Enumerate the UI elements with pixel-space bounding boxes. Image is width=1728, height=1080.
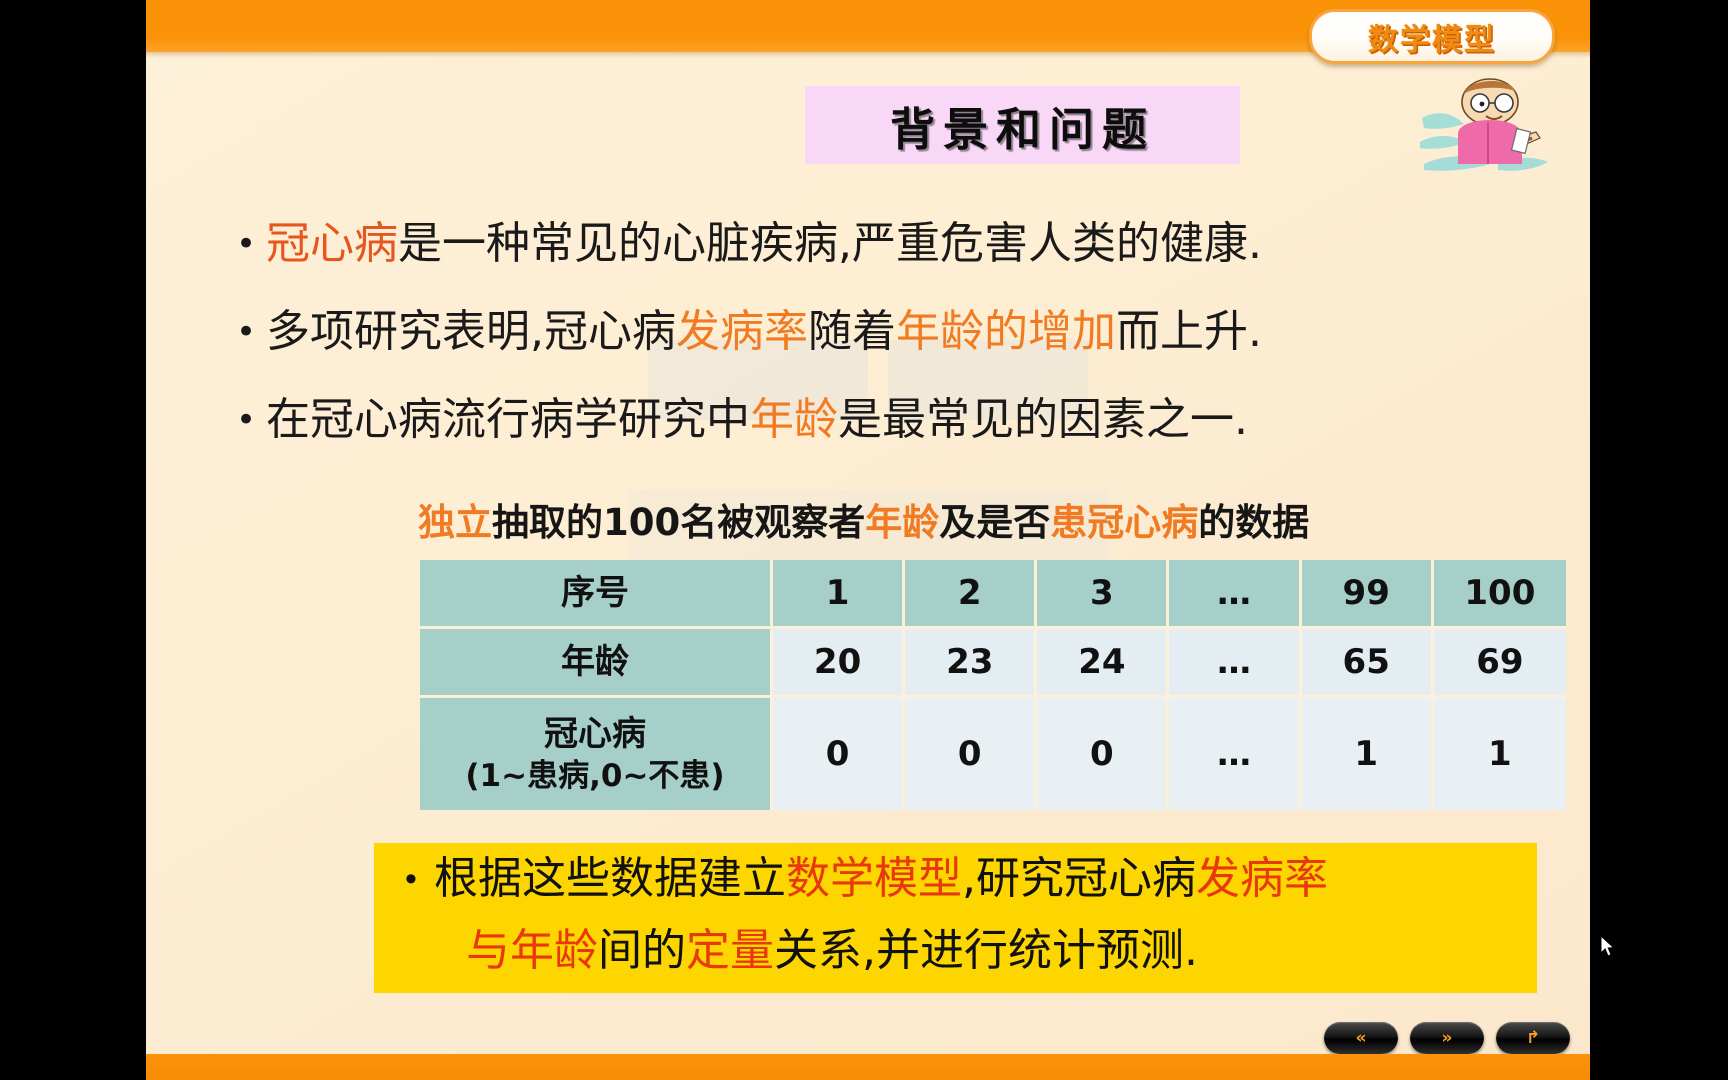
mouse-cursor — [1600, 935, 1616, 959]
table-cell: 24 — [1037, 629, 1169, 698]
table-cell: … — [1169, 629, 1301, 698]
bottom-orange-strip — [146, 1054, 1590, 1080]
bullet-item-1: •冠心病是一种常见的心脏疾病,严重危害人类的健康. — [236, 200, 1536, 288]
slide-title-box: 背景和问题 — [805, 86, 1240, 164]
table-cell: … — [1169, 698, 1301, 810]
table-cell: 1 — [1302, 698, 1434, 810]
slide-canvas: 数学模型 — [146, 0, 1590, 1080]
table-row-label: 冠心病(1~患病,0~不患) — [420, 698, 773, 810]
table-row: 序号123…99100 — [420, 560, 1566, 629]
bullet-2-segment-0: 多项研究表明,冠心病 — [266, 306, 676, 357]
table-cell: 2 — [905, 560, 1037, 629]
subline-segment-3: 及是否 — [939, 501, 1050, 544]
table-cell: 65 — [1302, 629, 1434, 698]
subline-segment-0: 独立 — [418, 501, 492, 544]
mascot-illustration — [1418, 72, 1550, 180]
callout-bullet-marker: • — [388, 843, 434, 915]
bullet-text-3: 在冠心病流行病学研究中年龄是最常见的因素之一. — [266, 376, 1248, 464]
table-cell: 99 — [1302, 560, 1434, 629]
table-row: 年龄202324…6569 — [420, 629, 1566, 698]
callout-l2-segment-2: 定量 — [686, 925, 774, 976]
observation-data-table: 序号123…99100年龄202324…6569冠心病(1~患病,0~不患)00… — [420, 560, 1566, 810]
table-cell: 20 — [773, 629, 905, 698]
table-cell: … — [1169, 560, 1301, 629]
table-cell: 100 — [1434, 560, 1566, 629]
table-cell: 1 — [1434, 698, 1566, 810]
table-cell: 0 — [905, 698, 1037, 810]
slide-title: 背景和问题 — [890, 93, 1155, 158]
callout-l2-segment-1: 间的 — [598, 925, 686, 976]
bullet-marker-icon: • — [236, 288, 266, 376]
bullet-list: •冠心病是一种常见的心脏疾病,严重危害人类的健康.•多项研究表明,冠心病发病率随… — [236, 200, 1536, 464]
bullet-1-segment-0: 冠心病 — [266, 218, 398, 269]
bullet-2-segment-1: 发病率 — [676, 306, 808, 357]
callout-l2-segment-3: 关系,并进行统计预测. — [774, 925, 1198, 976]
bullet-2-segment-2: 随着 — [808, 306, 896, 357]
subline-segment-2: 年龄 — [865, 501, 939, 544]
table-cell: 0 — [773, 698, 905, 810]
callout-l1-segment-2: ,研究冠心病 — [962, 853, 1196, 904]
table-cell: 3 — [1037, 560, 1169, 629]
brand-badge: 数学模型 — [1309, 9, 1555, 64]
bullet-3-segment-1: 年龄 — [750, 394, 838, 445]
table-row-label-main: 序号 — [420, 571, 770, 615]
table-cell: 0 — [1037, 698, 1169, 810]
table-cell: 1 — [773, 560, 905, 629]
task-callout-box: • 根据这些数据建立数学模型,研究冠心病发病率 与年龄间的定量关系,并进行统计预… — [374, 843, 1537, 993]
callout-line-1: 根据这些数据建立数学模型,研究冠心病发病率 — [434, 843, 1328, 915]
brand-label: 数学模型 — [1368, 15, 1496, 59]
bullet-2-segment-3: 年龄的增加 — [896, 306, 1116, 357]
data-description-line: 独立抽取的100名被观察者年龄及是否患冠心病的数据 — [418, 492, 1309, 546]
table-row-label: 年龄 — [420, 629, 773, 698]
callout-l1-segment-1: 数学模型 — [786, 853, 962, 904]
home-button[interactable]: ↱ — [1496, 1022, 1570, 1054]
bullet-item-3: •在冠心病流行病学研究中年龄是最常见的因素之一. — [236, 376, 1536, 464]
bullet-text-2: 多项研究表明,冠心病发病率随着年龄的增加而上升. — [266, 288, 1262, 376]
table-row-label-main: 年龄 — [420, 640, 770, 684]
prev-button[interactable]: « — [1324, 1022, 1398, 1054]
bullet-marker-icon: • — [236, 200, 266, 288]
table-row: 冠心病(1~患病,0~不患)000…11 — [420, 698, 1566, 810]
bullet-marker-icon: • — [236, 376, 266, 464]
callout-line-2: 与年龄间的定量关系,并进行统计预测. — [374, 915, 1537, 987]
table-row-label-sub: (1~患病,0~不患) — [420, 756, 770, 796]
subline-segment-4: 患冠心病 — [1050, 501, 1198, 544]
callout-l2-segment-0: 与年龄 — [466, 925, 598, 976]
table-row-label: 序号 — [420, 560, 773, 629]
next-button[interactable]: » — [1410, 1022, 1484, 1054]
subline-segment-1: 抽取的100名被观察者 — [492, 501, 865, 544]
table-cell: 23 — [905, 629, 1037, 698]
bullet-3-segment-2: 是最常见的因素之一. — [838, 394, 1248, 445]
callout-l1-segment-3: 发病率 — [1196, 853, 1328, 904]
prev-icon: « — [1356, 1030, 1367, 1047]
bullet-item-2: •多项研究表明,冠心病发病率随着年龄的增加而上升. — [236, 288, 1536, 376]
screen: 数学模型 — [0, 0, 1728, 1080]
bullet-3-segment-0: 在冠心病流行病学研究中 — [266, 394, 750, 445]
bullet-text-1: 冠心病是一种常见的心脏疾病,严重危害人类的健康. — [266, 200, 1262, 288]
callout-l1-segment-0: 根据这些数据建立 — [434, 853, 786, 904]
bullet-1-segment-1: 是一种常见的心脏疾病,严重危害人类的健康. — [398, 218, 1262, 269]
slide-navigation[interactable]: «»↱ — [1324, 1022, 1570, 1054]
home-icon: ↱ — [1526, 1030, 1540, 1047]
table-row-label-main: 冠心病 — [420, 712, 770, 756]
callout-first-row: • 根据这些数据建立数学模型,研究冠心病发病率 — [374, 843, 1537, 915]
subline-segment-5: 的数据 — [1198, 501, 1309, 544]
bullet-2-segment-4: 而上升. — [1116, 306, 1262, 357]
next-icon: » — [1442, 1030, 1453, 1047]
table-cell: 69 — [1434, 629, 1566, 698]
